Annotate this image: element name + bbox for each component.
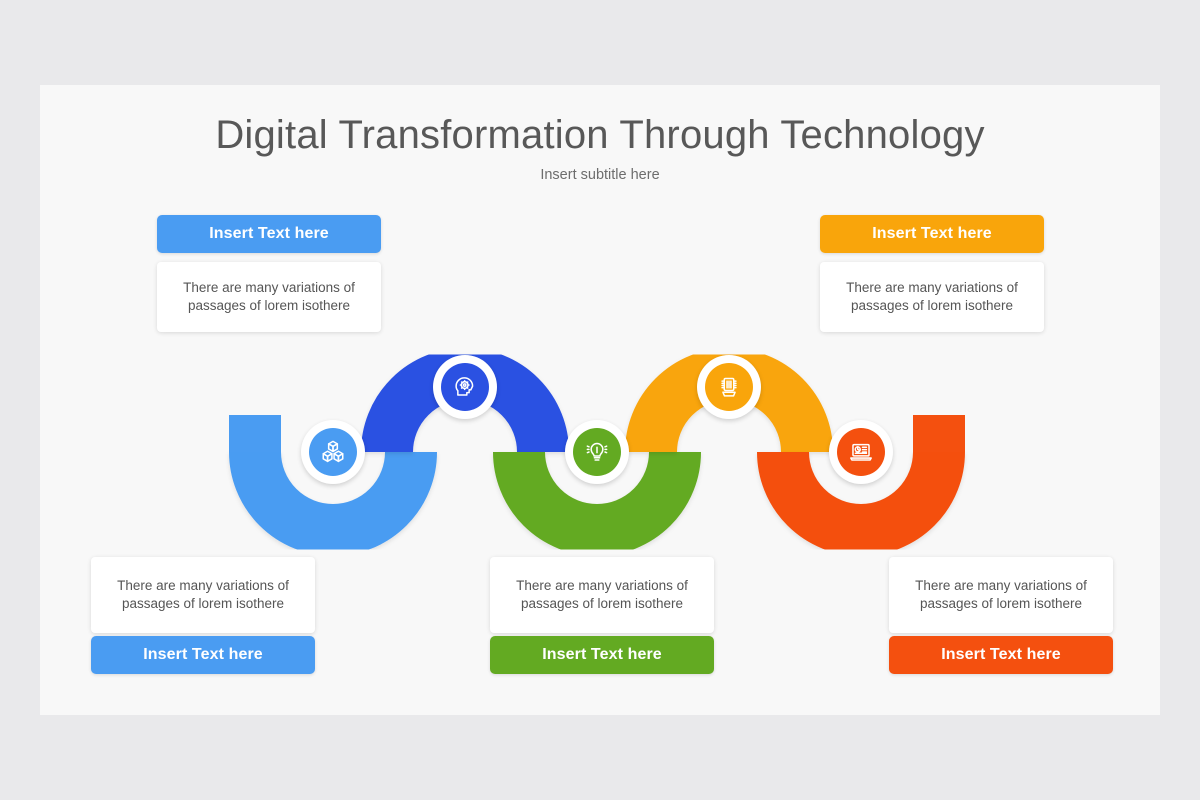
step-node-5[interactable] <box>829 420 893 484</box>
step-4-button[interactable]: Insert Text here <box>820 215 1044 253</box>
step-4-text-card: There are many variations of passages of… <box>820 262 1044 332</box>
step-1-button[interactable]: Insert Text here <box>91 636 315 674</box>
step-5-button[interactable]: Insert Text here <box>889 636 1113 674</box>
step-node-4[interactable] <box>697 355 761 419</box>
page-subtitle: Insert subtitle here <box>40 167 1160 183</box>
head-gear-icon <box>452 374 478 400</box>
step-node-1-disc <box>309 428 357 476</box>
cubes-icon <box>320 439 346 465</box>
microchip-icon <box>716 374 742 400</box>
step-node-2-disc <box>441 363 489 411</box>
laptop-chart-icon <box>848 439 874 465</box>
step-2-text-card: There are many variations of passages of… <box>157 262 381 332</box>
ribbon-segment-1-tip <box>229 415 281 452</box>
step-node-1[interactable] <box>301 420 365 484</box>
page-title: Digital Transformation Through Technolog… <box>40 113 1160 158</box>
step-1-text-card: There are many variations of passages of… <box>91 557 315 633</box>
step-node-2[interactable] <box>433 355 497 419</box>
slide-canvas: Digital Transformation Through Technolog… <box>40 85 1160 715</box>
lightbulb-icon <box>584 439 610 465</box>
step-node-5-disc <box>837 428 885 476</box>
step-3-text-card: There are many variations of passages of… <box>490 557 714 633</box>
step-node-3[interactable] <box>565 420 629 484</box>
step-node-4-disc <box>705 363 753 411</box>
step-3-button[interactable]: Insert Text here <box>490 636 714 674</box>
step-node-3-disc <box>573 428 621 476</box>
ribbon-segment-5-tip <box>913 415 965 452</box>
step-5-text-card: There are many variations of passages of… <box>889 557 1113 633</box>
step-2-button[interactable]: Insert Text here <box>157 215 381 253</box>
